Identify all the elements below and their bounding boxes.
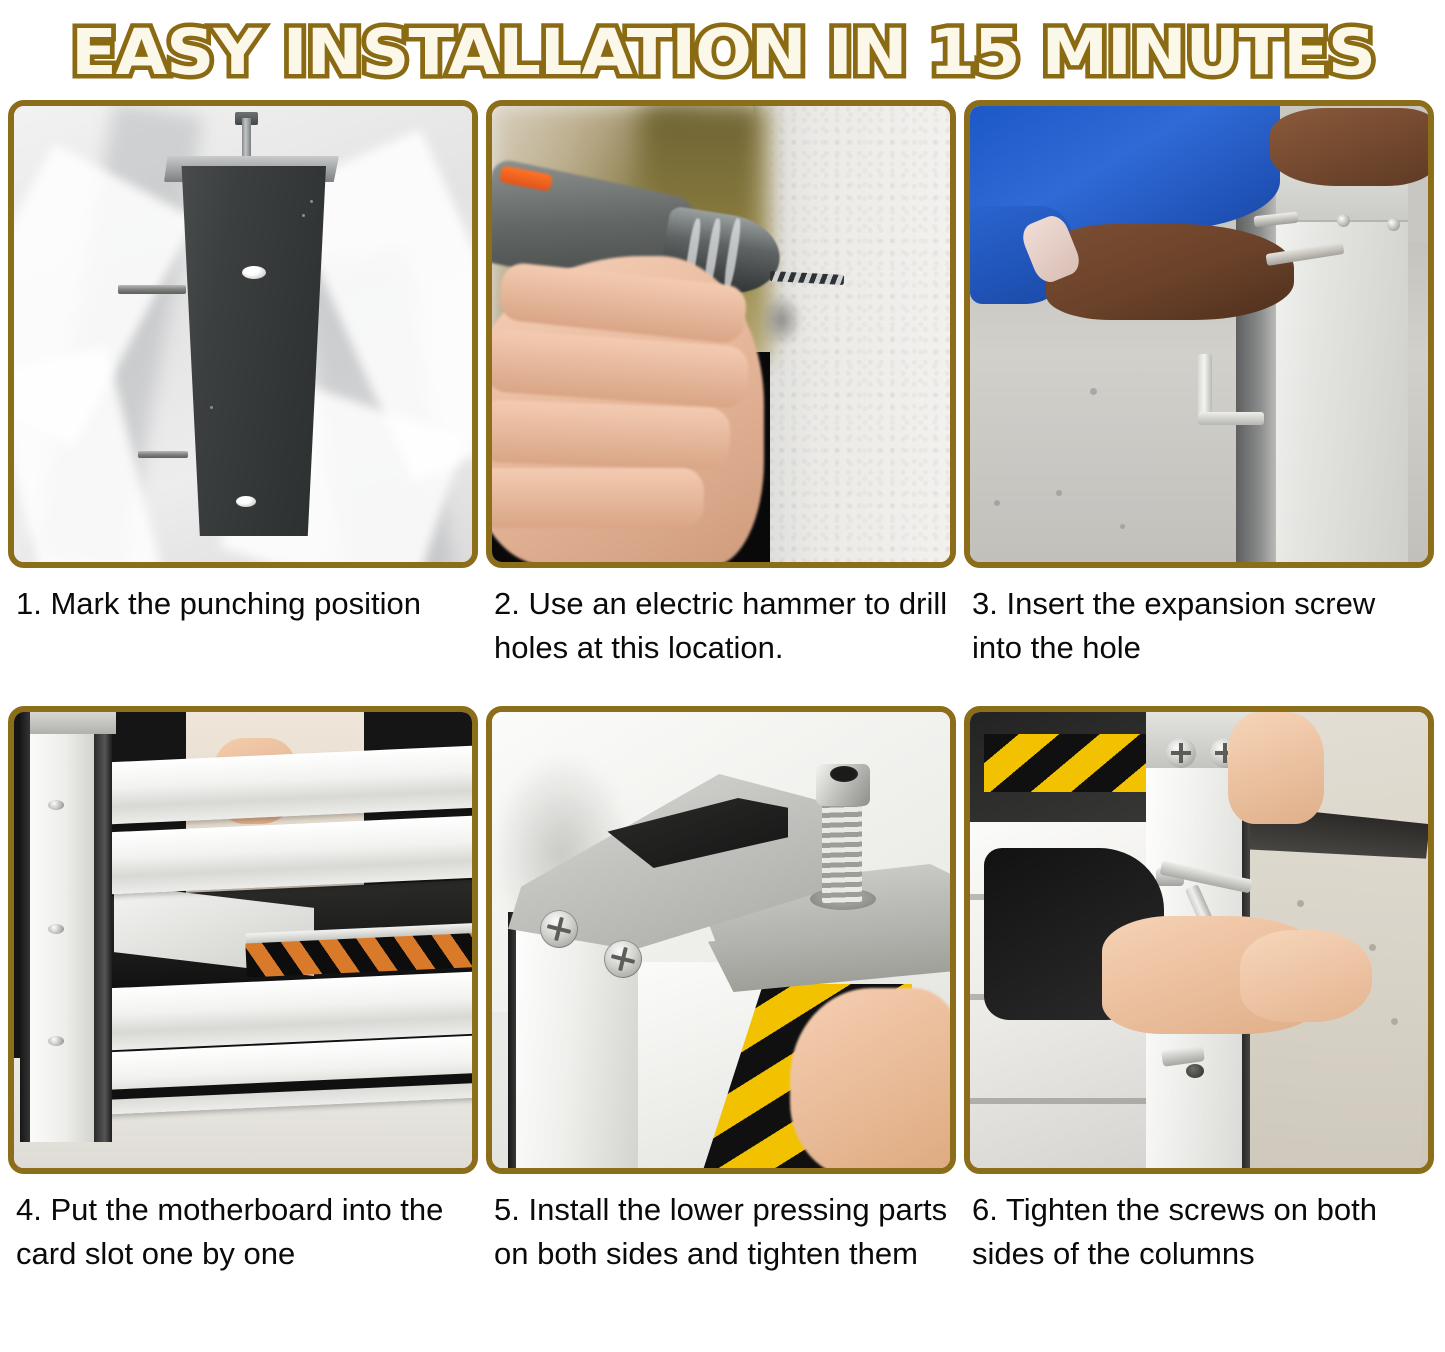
side-bolt (118, 285, 186, 294)
allen-key-arm (1198, 412, 1264, 425)
surface-mark (310, 200, 313, 203)
surface-mark (302, 214, 305, 217)
step-photo-3 (970, 106, 1428, 562)
floor-speck (1090, 388, 1097, 395)
finger (492, 468, 704, 528)
card-slot-channel (94, 712, 112, 1142)
step-caption-3: 3. Insert the expansion screw into the h… (964, 568, 1434, 706)
post-top-cap (30, 712, 116, 734)
column-screw (1387, 218, 1400, 231)
mounting-hole (236, 496, 256, 507)
step-photo-frame-6 (964, 706, 1434, 1174)
step-photo-6 (970, 712, 1428, 1168)
floor-speck (994, 500, 1000, 506)
column-hole (1186, 1064, 1204, 1078)
step-caption-1: 1. Mark the punching position (8, 568, 478, 706)
hand (790, 988, 950, 1168)
hex-socket (830, 766, 858, 782)
forearm (1046, 224, 1294, 320)
drill-dust (760, 294, 802, 346)
floor-speck (1391, 1018, 1398, 1025)
step-photo-5 (492, 712, 950, 1168)
step-caption-4: 4. Put the motherboard into the card slo… (8, 1174, 478, 1304)
step-photo-frame-1 (8, 100, 478, 568)
mounting-post (174, 166, 326, 536)
step-card-5: 5. Install the lower pressing parts on b… (486, 706, 956, 1304)
steps-grid: 1. Mark the punching position (0, 100, 1445, 1304)
post-screw (48, 800, 64, 810)
step-photo-2 (492, 106, 950, 562)
step-card-6: 6. Tighten the screws on both sides of t… (964, 706, 1434, 1304)
phillips-screw (1166, 738, 1196, 768)
upper-hand (1228, 712, 1324, 824)
floor-speck (1056, 490, 1062, 496)
step-caption-2: 2. Use an electric hammer to drill holes… (486, 568, 956, 706)
floor-speck (1120, 524, 1125, 529)
step-caption-5: 5. Install the lower pressing parts on b… (486, 1174, 956, 1304)
page-title: EASY INSTALLATION IN 15 MINUTES (71, 21, 1375, 84)
side-bolt (138, 451, 188, 458)
floor-speck (1297, 900, 1304, 907)
installation-guide-page: EASY INSTALLATION IN 15 MINUTES (0, 0, 1445, 1352)
mounting-hole (242, 266, 266, 279)
step-photo-frame-2 (486, 100, 956, 568)
step-card-2: 2. Use an electric hammer to drill holes… (486, 100, 956, 706)
step-card-1: 1. Mark the punching position (8, 100, 478, 706)
column-screw (1337, 214, 1350, 227)
step-card-4: 4. Put the motherboard into the card slo… (8, 706, 478, 1304)
step-card-3: 3. Insert the expansion screw into the h… (964, 100, 1434, 706)
surface-mark (210, 406, 213, 409)
board-seam (970, 1098, 1154, 1104)
step-photo-1 (14, 106, 472, 562)
hazard-stripes (984, 734, 1152, 792)
step-photo-frame-5 (486, 706, 956, 1174)
post-screw (48, 924, 64, 934)
step-photo-frame-4 (8, 706, 478, 1174)
upper-hand (1270, 108, 1428, 186)
step-caption-6: 6. Tighten the screws on both sides of t… (964, 1174, 1434, 1304)
step-photo-frame-3 (964, 100, 1434, 568)
post-screw (48, 1036, 64, 1046)
fingers (1240, 930, 1372, 1022)
page-title-bar: EASY INSTALLATION IN 15 MINUTES (0, 0, 1445, 100)
floor-speck (1369, 944, 1376, 951)
step-photo-4 (14, 712, 472, 1168)
finger (492, 400, 731, 471)
